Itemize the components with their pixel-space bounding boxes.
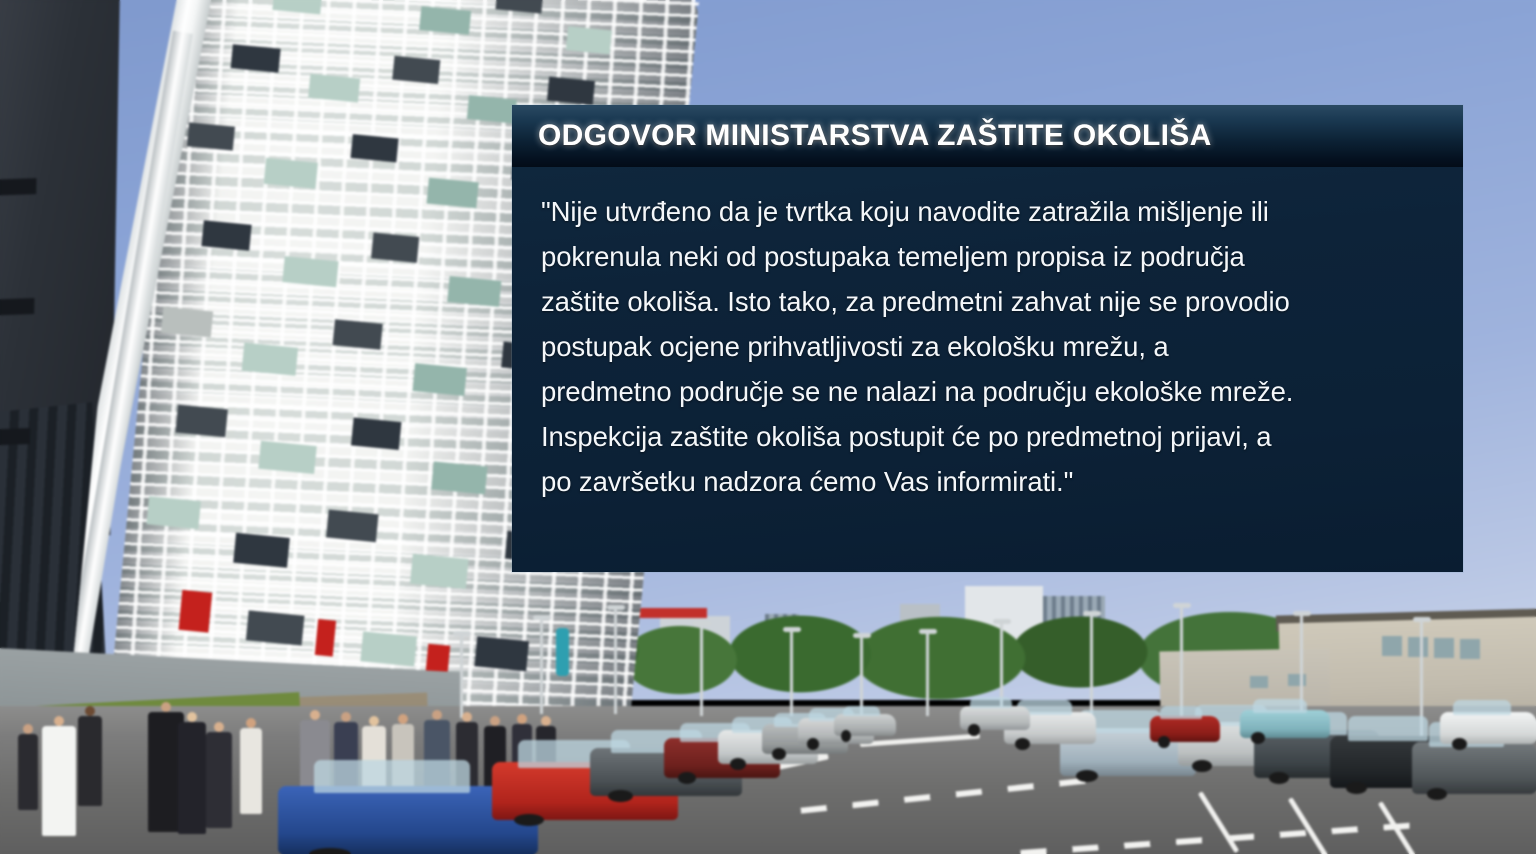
tower-panel: [231, 44, 281, 72]
parked-car: [1412, 742, 1536, 794]
pedestrian: [18, 724, 38, 810]
tower-panel: [187, 122, 235, 150]
quote-line: "Nije utvrđeno da je tvrtka koju navodit…: [541, 189, 1433, 234]
street-lamp: [1090, 614, 1093, 716]
street-lamp: [614, 608, 617, 714]
tower-panel: [371, 233, 419, 263]
quote-overlay-panel: ODGOVOR MINISTARSTVA ZAŠTITE OKOLIŠA "Ni…: [512, 105, 1463, 572]
quote-line: po završetku nadzora ćemo Vas informirat…: [541, 459, 1433, 504]
tower-panel-red: [315, 619, 336, 657]
tower-panel: [258, 441, 316, 474]
moving-car: [960, 706, 1030, 730]
street-lamp: [1180, 606, 1183, 718]
quote-line: predmetno područje se ne nalazi na podru…: [541, 369, 1433, 414]
shed-window-4: [1460, 639, 1480, 659]
pedestrian: [240, 718, 262, 814]
pedestrian: [178, 712, 206, 834]
tower-panel: [412, 363, 466, 396]
pedestrian: [206, 722, 232, 828]
tower-panel: [447, 276, 501, 307]
tower-panel: [333, 319, 383, 349]
tower-panel: [431, 461, 487, 494]
parked-car: [1240, 710, 1330, 738]
street-lamp: [460, 634, 463, 718]
overlay-body: "Nije utvrđeno da je tvrtka koju navodit…: [512, 167, 1463, 504]
shed-window-6: [1288, 674, 1306, 686]
tower-panel: [419, 6, 471, 35]
tower-panel: [351, 134, 399, 162]
street-lamp: [540, 618, 543, 714]
tower-panel: [161, 307, 213, 338]
overlay-title: ODGOVOR MINISTARSTVA ZAŠTITE OKOLIŠA: [538, 119, 1212, 153]
shed-window-1: [1382, 636, 1402, 656]
parked-car: [1150, 716, 1220, 742]
tower-panel: [201, 220, 251, 250]
shed-window-5: [1250, 676, 1268, 688]
shed-window-3: [1434, 638, 1454, 658]
overlay-title-bar: ODGOVOR MINISTARSTVA ZAŠTITE OKOLIŠA: [512, 105, 1463, 167]
tower-panel: [392, 56, 440, 84]
pedestrian: [42, 716, 76, 836]
street-lamp: [700, 624, 703, 716]
street-lamp: [860, 636, 863, 716]
tower-panel: [175, 405, 227, 438]
tower-panel: [360, 631, 417, 666]
tower-panel-red: [179, 590, 213, 633]
tower-panel: [308, 74, 360, 103]
tower-panel: [547, 77, 595, 105]
tower-panel: [147, 496, 201, 529]
quote-line: postupak ocjene prihvatljivosti za ekolo…: [541, 324, 1433, 369]
parked-car: [834, 714, 896, 736]
quote-line: Inspekcija zaštite okoliša postupit će p…: [541, 414, 1433, 459]
street-lamp: [790, 630, 793, 716]
tower-panel: [427, 178, 479, 209]
tower-panel: [242, 343, 298, 376]
tower-panel: [410, 554, 469, 589]
tower-panel: [326, 510, 378, 543]
tower-panel: [474, 636, 529, 671]
quote-line: zaštite okoliša. Isto tako, za predmetni…: [541, 279, 1433, 324]
tower-panel: [351, 418, 401, 450]
tower-panel: [566, 26, 612, 54]
screenshot-stage: ODGOVOR MINISTARSTVA ZAŠTITE OKOLIŠA "Ni…: [0, 0, 1536, 854]
tower-panel: [246, 610, 305, 645]
tower-panel: [282, 256, 338, 287]
tower-panel: [233, 533, 290, 568]
quote-line: pokrenula neki od postupaka temeljem pro…: [541, 234, 1433, 279]
shed-window-2: [1408, 637, 1428, 657]
tower-panel: [467, 95, 517, 123]
street-lamp: [926, 632, 929, 716]
pedestrian: [78, 706, 102, 806]
tower-panel: [264, 158, 318, 189]
parked-car: [1440, 712, 1536, 744]
traffic-signal: [556, 628, 569, 676]
